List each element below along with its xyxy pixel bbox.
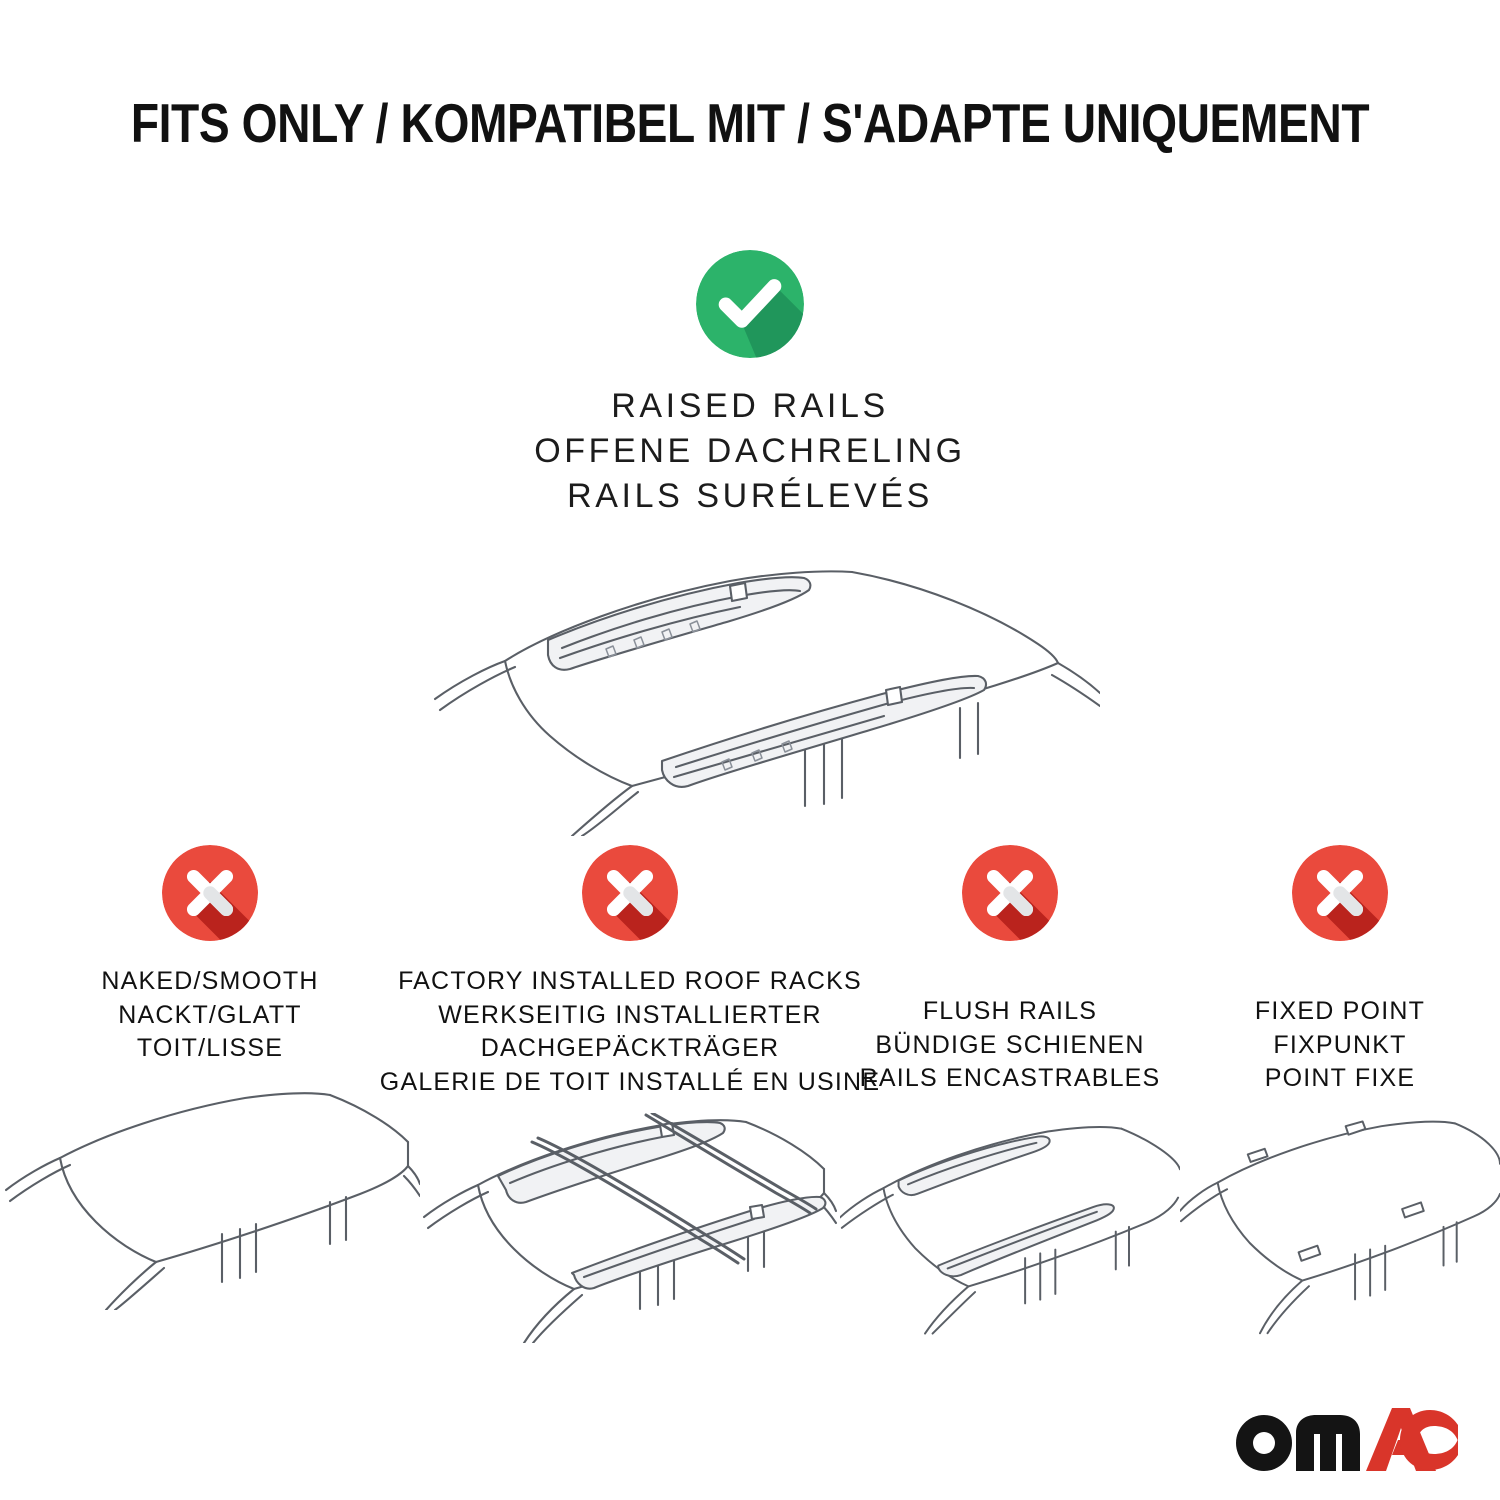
caption-line: RAILS ENCASTRABLES (860, 1062, 1161, 1096)
incompatible-column-flush-rails: FLUSH RAILS BÜNDIGE SCHIENEN RAILS ENCAS… (840, 845, 1180, 1340)
caption-line: DACHGEPÄCKTRÄGER (380, 1032, 880, 1066)
incompatible-caption-naked-smooth: NAKED/SMOOTH NACKT/GLATT TOIT/LISSE (101, 965, 318, 1066)
caption-line: NAKED/SMOOTH (101, 965, 318, 999)
compatible-section: RAISED RAILS OFFENE DACHRELING RAILS SUR… (0, 250, 1500, 836)
caption-line: WERKSEITIG INSTALLIERTER (380, 999, 880, 1033)
compatible-caption: RAISED RAILS OFFENE DACHRELING RAILS SUR… (534, 384, 965, 520)
x-circle-icon (162, 845, 258, 941)
car-roof-factory-racks-illustration (420, 1113, 840, 1343)
incompatible-column-factory-racks: FACTORY INSTALLED ROOF RACKS WERKSEITIG … (420, 845, 840, 1343)
logo-letter-o (1236, 1415, 1292, 1471)
compatible-caption-line-2: OFFENE DACHRELING (534, 429, 965, 474)
caption-line: NACKT/GLATT (101, 999, 318, 1033)
incompatible-section: NAKED/SMOOTH NACKT/GLATT TOIT/LISSE (0, 845, 1500, 1343)
caption-line: FLUSH RAILS (860, 995, 1161, 1029)
x-circle-icon (1292, 845, 1388, 941)
incompatible-caption-factory-racks: FACTORY INSTALLED ROOF RACKS WERKSEITIG … (380, 965, 880, 1099)
page-title: FITS ONLY / KOMPATIBEL MIT / S'ADAPTE UN… (120, 95, 1380, 153)
caption-line: FIXED POINT (1255, 995, 1425, 1029)
incompatible-column-fixed-point: FIXED POINT FIXPUNKT POINT FIXE (1180, 845, 1500, 1340)
caption-line: POINT FIXE (1255, 1062, 1425, 1096)
logo-letter-m (1296, 1415, 1360, 1471)
car-roof-raised-rails-illustration (400, 536, 1100, 836)
x-circle-icon (582, 845, 678, 941)
incompatible-caption-fixed-point: FIXED POINT FIXPUNKT POINT FIXE (1255, 995, 1425, 1096)
compatible-caption-line-3: RAILS SURÉLEVÉS (534, 474, 965, 519)
x-circle-icon (962, 845, 1058, 941)
omac-logo (1234, 1406, 1458, 1472)
caption-line: BÜNDIGE SCHIENEN (860, 1029, 1161, 1063)
header: FITS ONLY / KOMPATIBEL MIT / S'ADAPTE UN… (0, 95, 1500, 153)
car-roof-naked-smooth-illustration (0, 1080, 420, 1310)
caption-line: FIXPUNKT (1255, 1029, 1425, 1063)
logo-letter-C (1400, 1410, 1458, 1470)
car-roof-fixed-point-illustration (1180, 1110, 1500, 1340)
check-circle-icon (696, 250, 804, 358)
caption-line: GALERIE DE TOIT INSTALLÉ EN USINE (380, 1066, 880, 1100)
car-roof-flush-rails-illustration (840, 1110, 1180, 1340)
incompatible-column-naked-smooth: NAKED/SMOOTH NACKT/GLATT TOIT/LISSE (0, 845, 420, 1310)
caption-line: TOIT/LISSE (101, 1032, 318, 1066)
incompatible-caption-flush-rails: FLUSH RAILS BÜNDIGE SCHIENEN RAILS ENCAS… (860, 995, 1161, 1096)
compatible-caption-line-1: RAISED RAILS (534, 384, 965, 429)
caption-line: FACTORY INSTALLED ROOF RACKS (380, 965, 880, 999)
